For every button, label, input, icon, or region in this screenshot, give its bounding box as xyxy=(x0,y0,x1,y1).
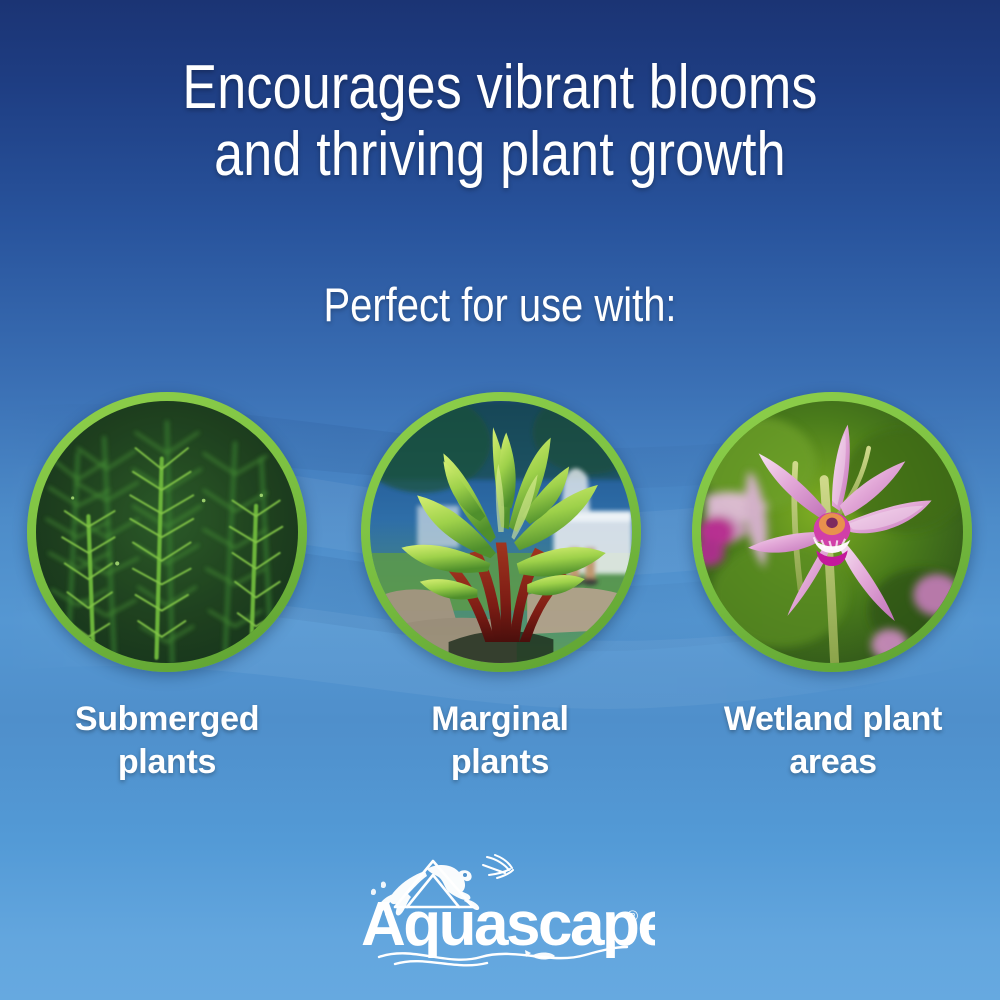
caption-line-1: Marginal xyxy=(345,698,655,741)
caption-line-1: Submerged xyxy=(7,698,327,741)
plant-card-wetland-plant-areas xyxy=(692,392,972,672)
plant-card-submerged-plants xyxy=(27,392,307,672)
caption-line-1: Wetland plant xyxy=(672,698,994,741)
caption-wetland-plant-areas: Wetland plant areas xyxy=(672,698,994,783)
photo-marginal-plants xyxy=(370,401,632,663)
caption-submerged-plants: Submerged plants xyxy=(7,698,327,783)
gallery-captions: Submerged plants Marginal plants Wetland… xyxy=(0,698,1000,808)
plant-type-gallery xyxy=(0,392,1000,682)
dragonfly-icon xyxy=(483,855,513,878)
caption-line-2: areas xyxy=(672,741,994,784)
photo-wetland-plant-areas xyxy=(701,401,963,663)
logo-registered-mark: ® xyxy=(627,908,638,925)
headline-line-2: and thriving plant growth xyxy=(80,122,920,189)
headline: Encourages vibrant blooms and thriving p… xyxy=(80,55,920,189)
plant-card-marginal-plants xyxy=(361,392,641,672)
subheading: Perfect for use with: xyxy=(75,277,925,332)
caption-marginal-plants: Marginal plants xyxy=(345,698,655,783)
caption-line-2: plants xyxy=(7,741,327,784)
headline-line-1: Encourages vibrant blooms xyxy=(182,53,817,122)
caption-line-2: plants xyxy=(345,741,655,784)
aquascape-logo: Aquascape ® xyxy=(355,845,655,970)
photo-submerged-plants xyxy=(36,401,298,663)
marketing-poster: Encourages vibrant blooms and thriving p… xyxy=(0,0,1000,1000)
